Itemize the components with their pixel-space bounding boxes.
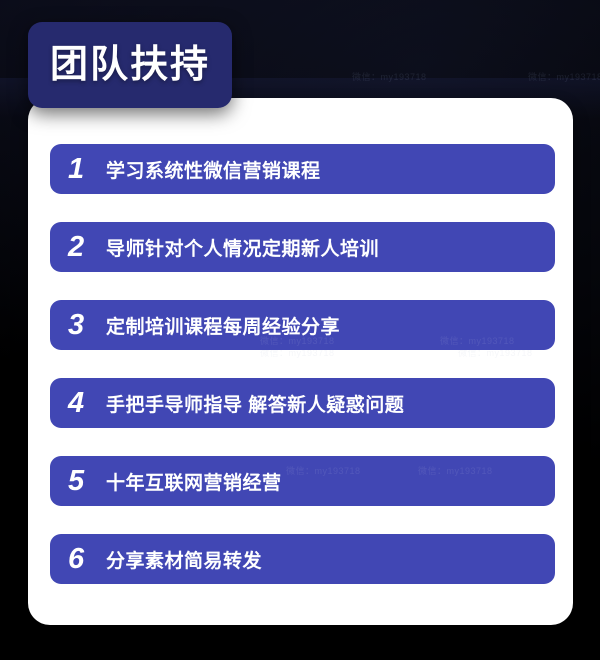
list-item-label: 手把手导师指导 解答新人疑惑问题 [106,390,404,417]
list-item[interactable]: 6 分享素材简易转发 [50,534,555,584]
list-item-number: 2 [68,233,94,262]
page-title: 团队扶持 [50,46,210,84]
watermark: 微信：my193718 [528,70,600,83]
promo-poster: 微信：my193718 微信：my193718 团队扶持 微信：my193718… [0,0,600,660]
watermark: 微信：my193718 [352,70,427,83]
list-item-label: 导师针对个人情况定期新人培训 [106,234,379,261]
list-item-number: 4 [68,389,94,418]
list-item-label: 定制培训课程每周经验分享 [106,312,340,339]
list-item-label: 十年互联网营销经营 [106,468,282,495]
title-badge: 团队扶持 [28,22,232,108]
list-item-label: 学习系统性微信营销课程 [106,156,321,183]
benefit-list: 1 学习系统性微信营销课程 2 导师针对个人情况定期新人培训 3 定制培训课程每… [50,144,555,584]
watermark: 微信：my193718 [418,464,493,477]
list-item-number: 5 [68,467,94,496]
watermark: 微信：my193718 [440,334,515,347]
list-item[interactable]: 5 十年互联网营销经营 微信：my193718 微信：my193718 [50,456,555,506]
list-item-number: 1 [68,155,94,184]
watermark: 微信：my193718 [286,464,361,477]
list-item-number: 3 [68,311,94,340]
list-item-number: 6 [68,545,94,574]
list-item[interactable]: 3 定制培训课程每周经验分享 微信：my193718 微信：my193718 [50,300,555,350]
list-item[interactable]: 4 手把手导师指导 解答新人疑惑问题 [50,378,555,428]
list-item[interactable]: 2 导师针对个人情况定期新人培训 [50,222,555,272]
list-item-label: 分享素材简易转发 [106,546,262,573]
list-item[interactable]: 1 学习系统性微信营销课程 [50,144,555,194]
content-card: 微信：my193718 微信：my193718 1 学习系统性微信营销课程 2 … [28,98,573,625]
